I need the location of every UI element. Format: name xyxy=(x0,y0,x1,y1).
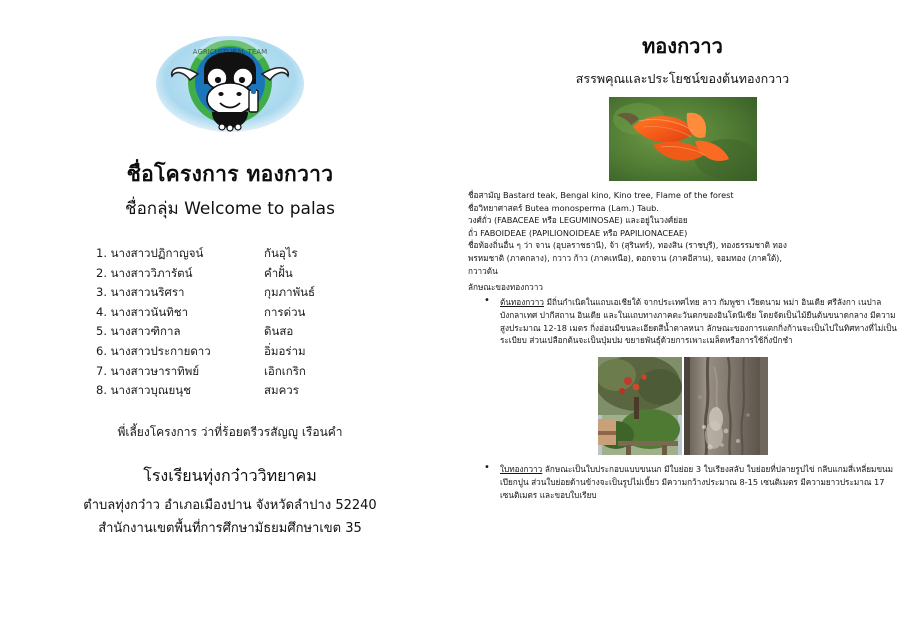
bullet-lead-trunk: ต้นทองกวาว xyxy=(500,297,544,307)
bullet-text-trunk: มีถิ่นกำเนิดในแถบเอเชียใต้ จากประเทศไทย … xyxy=(500,297,897,346)
member-surname: กุมภาพันธ์ xyxy=(264,283,364,303)
member-name: 8. นางสาวบุณยนุช xyxy=(96,381,264,401)
page-title: ทองกวาว xyxy=(460,30,905,62)
list-item: 2. นางสาววิภารัตน์ คำฝั้น xyxy=(96,264,364,284)
flower-photo-wrapper xyxy=(460,97,905,181)
flowering-tree-photo xyxy=(598,357,682,455)
content-column: ทองกวาว สรรพคุณและประโยชน์ของต้นทองกวาว xyxy=(460,0,905,644)
member-name: 3. นางสาวนริศรา xyxy=(96,283,264,303)
member-name: 5. นางสาวฑิกาล xyxy=(96,322,264,342)
list-item: 6. นางสาวประกายดาว อิ่มอร่าม xyxy=(96,342,364,362)
tree-bark-photo xyxy=(684,357,768,455)
member-list: 1. นางสาวปฏิกาญจน์ กันอุไร 2. นางสาววิภา… xyxy=(96,244,364,401)
document-page: AGRICULTURAL TEAM xyxy=(0,0,905,644)
buffalo-mascot-logo: AGRICULTURAL TEAM xyxy=(154,26,306,146)
list-item: ใบทองกวาว ลักษณะเป็นใบประกอบแบบขนนก มีใบ… xyxy=(468,463,897,502)
project-title: ชื่อโครงการ ทองกวาว xyxy=(0,158,460,191)
list-item: 3. นางสาวนริศรา กุมภาพันธ์ xyxy=(96,283,364,303)
info-line-family: วงศ์ถั่ว (FABACEAE หรือ LEGUMINOSAE) และ… xyxy=(468,214,897,227)
list-item: 8. นางสาวบุณยนุช สมควร xyxy=(96,381,364,401)
member-name: 1. นางสาวปฏิกาญจน์ xyxy=(96,244,264,264)
info-line-local-names-2: พรหมชาติ (ภาคกลาง), กวาว ก้าว (ภาคเหนือ)… xyxy=(468,252,897,265)
logo-wrapper: AGRICULTURAL TEAM xyxy=(0,26,460,146)
tree-photo-group xyxy=(460,357,905,455)
member-name: 7. นางสาวษาราทิพย์ xyxy=(96,362,264,382)
list-item: ต้นทองกวาว มีถิ่นกำเนิดในแถบเอเชียใต้ จา… xyxy=(468,296,897,348)
member-surname: อิ่มอร่าม xyxy=(264,342,364,362)
address-line-1: ตำบลทุ่งกว๋าว อำเภอเมืองปาน จังหวัดลำปาง… xyxy=(0,494,460,515)
member-surname: คำฝั้น xyxy=(264,264,364,284)
group-title: ชื่อกลุ่ม Welcome to palas xyxy=(0,195,460,222)
cover-column: AGRICULTURAL TEAM xyxy=(0,0,460,644)
flower-photo-svg xyxy=(609,97,757,181)
page-subtitle: สรรพคุณและประโยชน์ของต้นทองกวาว xyxy=(460,69,905,89)
info-line-local-names-3: กวาวต้น xyxy=(468,265,897,278)
member-surname: เอิกเกริก xyxy=(264,362,364,382)
address-line-2: สำนักงานเขตพื้นที่การศึกษามัธยมศึกษาเขต … xyxy=(0,517,460,538)
list-item: 5. นางสาวฑิกาล ดินสอ xyxy=(96,322,364,342)
member-surname: ดินสอ xyxy=(264,322,364,342)
bullet-text-leaf: ลักษณะเป็นใบประกอบแบบขนนก มีใบย่อย 3 ใบเ… xyxy=(500,464,893,500)
advisor-line: พี่เลี้ยงโครงการ ว่าที่ร้อยตรีวรสัญญู เร… xyxy=(0,423,460,442)
section-heading-characteristics: ลักษณะของทองกวาว xyxy=(468,281,897,294)
plant-info-block: ชื่อสามัญ Bastard teak, Bengal kino, Kin… xyxy=(468,189,897,277)
list-item: 7. นางสาวษาราทิพย์ เอิกเกริก xyxy=(96,362,364,382)
member-name: 4. นางสาวนันทิชา xyxy=(96,303,264,323)
flowering-tree-svg xyxy=(598,357,682,455)
list-item: 4. นางสาวนันทิชา การด่วน xyxy=(96,303,364,323)
member-surname: การด่วน xyxy=(264,303,364,323)
member-name: 6. นางสาวประกายดาว xyxy=(96,342,264,362)
leaf-list: ใบทองกวาว ลักษณะเป็นใบประกอบแบบขนนก มีใบ… xyxy=(468,463,897,502)
info-line-local-names-1: ชื่อท้องถิ่นอื่น ๆ ว่า จาน (อุบลราชธานี)… xyxy=(468,239,897,252)
list-item: 1. นางสาวปฏิกาญจน์ กันอุไร xyxy=(96,244,364,264)
member-surname: สมควร xyxy=(264,381,364,401)
flame-of-the-forest-flower-photo xyxy=(609,97,757,181)
member-name: 2. นางสาววิภารัตน์ xyxy=(96,264,264,284)
info-line-subfamily: ถั่ว FABOIDEAE (PAPILIONOIDEAE หรือ PAPI… xyxy=(468,227,897,240)
info-line-common-name: ชื่อสามัญ Bastard teak, Bengal kino, Kin… xyxy=(468,189,897,202)
school-name: โรงเรียนทุ่งกว๋าววิทยาคม xyxy=(0,464,460,489)
bullet-lead-leaf: ใบทองกวาว xyxy=(500,464,542,474)
member-surname: กันอุไร xyxy=(264,244,364,264)
tree-bark-svg xyxy=(684,357,768,455)
info-line-scientific-name: ชื่อวิทยาศาสตร์ Butea monosperma (Lam.) … xyxy=(468,202,897,215)
characteristics-list: ต้นทองกวาว มีถิ่นกำเนิดในแถบเอเชียใต้ จา… xyxy=(468,296,897,348)
logo-svg: AGRICULTURAL TEAM xyxy=(154,26,306,146)
